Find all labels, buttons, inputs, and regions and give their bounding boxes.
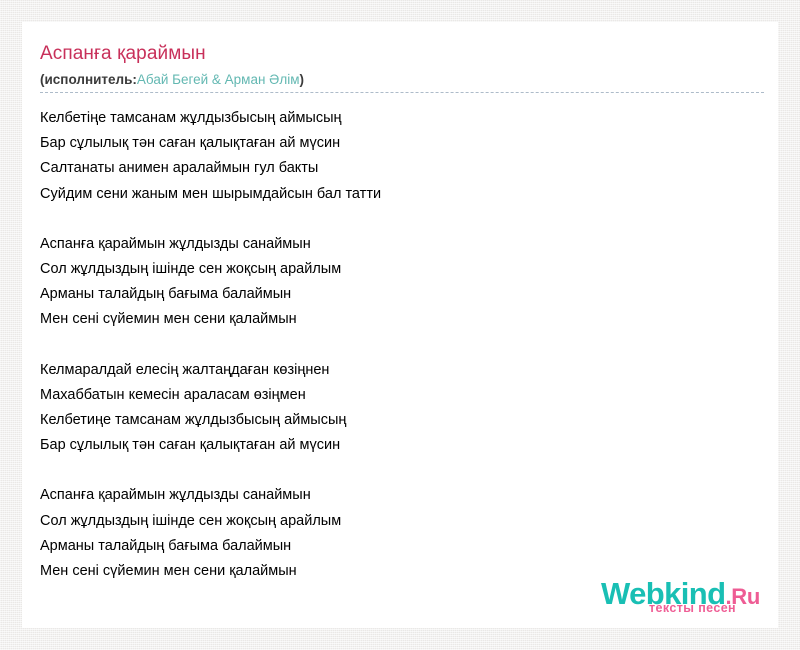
- page-title: Аспанға қараймын: [40, 42, 760, 66]
- site-logo[interactable]: Webkind.Ru тексты песен: [562, 577, 762, 623]
- song-header: Аспанға қараймын (исполнитель:Абай Бегей…: [40, 42, 760, 88]
- lyric-line: Суйдим сени жаным мен шырымдайсын бал та…: [40, 182, 740, 207]
- lyric-line: Аспанға қараймын жұлдызды санаймын: [40, 483, 740, 508]
- lyric-line: Бар сұлылық тән саған қалықтаған ай мүси…: [40, 131, 740, 156]
- lyric-line: Мен сені сүйемин мен сени қалаймын: [40, 307, 740, 332]
- lyrics-stanza: Аспанға қараймын жұлдызды санаймын Сол ж…: [40, 483, 740, 584]
- lyric-line: Арманы талайдың бағыма балаймын: [40, 534, 740, 559]
- lyric-line: Келмаралдай елесің жалтаңдаған көзіңнен: [40, 358, 740, 383]
- lyric-line: Арманы талайдың бағыма балаймын: [40, 282, 740, 307]
- lyric-line: Махаббатын кемесін араласам өзіңмен: [40, 383, 740, 408]
- header-divider: [40, 92, 764, 93]
- lyrics-body: Келбетіңе тамсанам жұлдызбысың аймысың Б…: [40, 106, 740, 584]
- performer-close-paren: ): [300, 72, 305, 87]
- performer-label: (исполнитель:: [40, 72, 137, 87]
- lyric-line: Сол жұлдыздың ішінде сен жоқсың арайлым: [40, 509, 740, 534]
- lyric-line: Салтанаты анимен аралаймын гул бакты: [40, 156, 740, 181]
- lyric-line: Сол жұлдыздың ішінде сен жоқсың арайлым: [40, 257, 740, 282]
- lyrics-stanza: Келмаралдай елесің жалтаңдаған көзіңнен …: [40, 358, 740, 459]
- logo-tagline: тексты песен: [649, 601, 736, 615]
- performer-link[interactable]: Абай Бегей & Арман Әлім: [137, 72, 300, 87]
- lyric-line: Келбетиңе тамсанам жұлдызбысың аймысың: [40, 408, 740, 433]
- lyric-line: Келбетіңе тамсанам жұлдызбысың аймысың: [40, 106, 740, 131]
- lyric-line: Бар сұлылық тән саған қалықтаған ай мүси…: [40, 433, 740, 458]
- performer-line: (исполнитель:Абай Бегей & Арман Әлім): [40, 71, 760, 88]
- lyrics-stanza: Аспанға қараймын жұлдызды санаймын Сол ж…: [40, 232, 740, 333]
- lyrics-stanza: Келбетіңе тамсанам жұлдызбысың аймысың Б…: [40, 106, 740, 207]
- lyrics-content-card: Аспанға қараймын (исполнитель:Абай Бегей…: [22, 22, 778, 628]
- lyric-line: Аспанға қараймын жұлдызды санаймын: [40, 232, 740, 257]
